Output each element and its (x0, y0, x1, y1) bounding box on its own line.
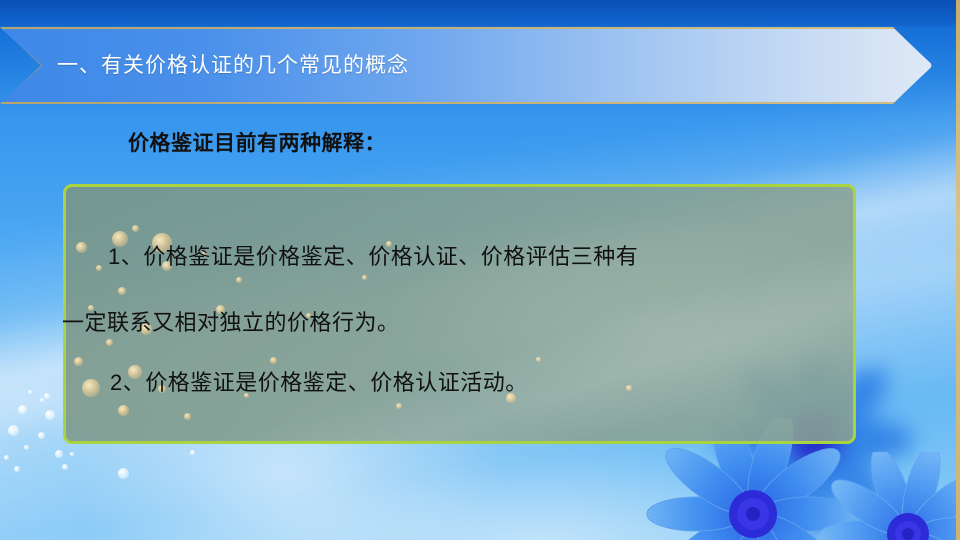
subtitle-text: 价格鉴证目前有两种解释： (128, 127, 386, 157)
title-banner: 一、有关价格认证的几个常见的概念 (0, 27, 932, 104)
right-gold-edge (956, 0, 960, 540)
warm-bokeh-dot (106, 339, 113, 346)
warm-bokeh-dot (184, 413, 191, 420)
warm-bokeh-dot (132, 225, 139, 232)
presentation-slide: 一、有关价格认证的几个常见的概念 价格鉴证目前有两种解释： (0, 0, 960, 540)
warm-bokeh-dot (74, 357, 83, 366)
warm-bokeh-dot (236, 277, 242, 283)
warm-bokeh-dot (96, 265, 102, 271)
panel-line-1: 1、价格鉴证是价格鉴定、价格认证、价格评估三种有 (108, 239, 638, 271)
warm-bokeh-dot (118, 287, 126, 295)
page-title: 一、有关价格认证的几个常见的概念 (57, 27, 409, 104)
warm-bokeh-dot (362, 275, 367, 280)
warm-bokeh-dot (270, 357, 277, 364)
background-top-band (0, 0, 960, 26)
warm-bokeh-dot (626, 385, 632, 391)
warm-bokeh-dot (396, 403, 402, 409)
warm-bokeh-dot (76, 242, 87, 253)
warm-bokeh-dot (82, 379, 100, 397)
warm-bokeh-dot (118, 405, 129, 416)
panel-line-2: 一定联系又相对独立的价格行为。 (62, 305, 400, 337)
panel-line-3: 2、价格鉴证是价格鉴定、价格认证活动。 (110, 365, 528, 397)
warm-bokeh-dot (536, 357, 541, 362)
